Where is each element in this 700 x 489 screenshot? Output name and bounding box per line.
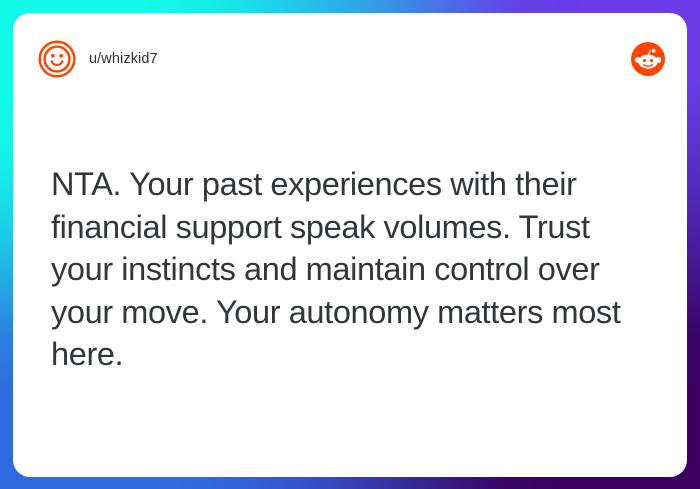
reddit-snoo-logo-icon[interactable]	[631, 42, 665, 76]
comment-text: NTA. Your past experiences with their fi…	[51, 163, 653, 376]
reddit-comment-card: u/whizkid7 NTA. Your past experiences wi…	[13, 13, 687, 477]
card-header: u/whizkid7	[13, 13, 687, 105]
gradient-background: u/whizkid7 NTA. Your past experiences wi…	[0, 0, 700, 489]
card-body: NTA. Your past experiences with their fi…	[51, 163, 653, 376]
author-username: u/whizkid7	[89, 51, 158, 67]
author-block[interactable]: u/whizkid7	[38, 40, 631, 78]
smiley-face-avatar-icon[interactable]	[38, 40, 76, 78]
